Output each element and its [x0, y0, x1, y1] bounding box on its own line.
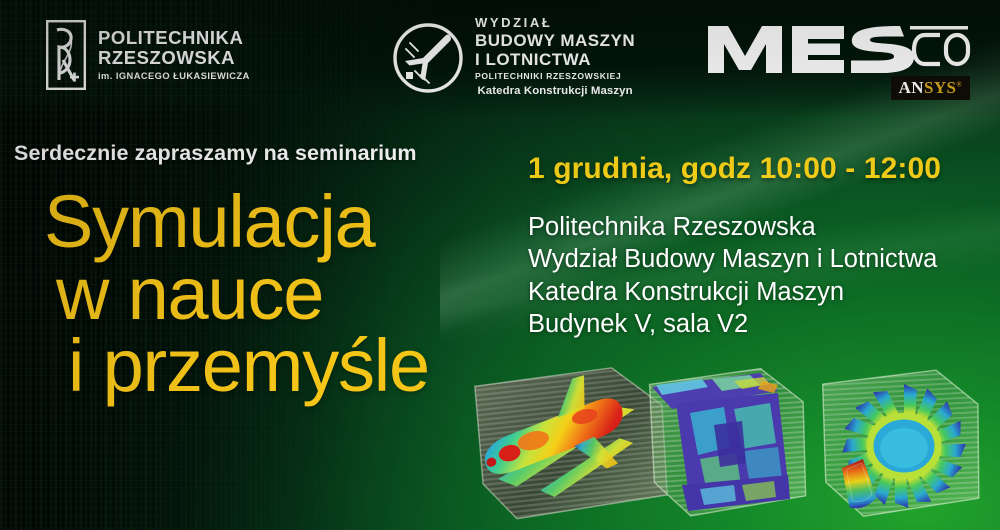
- fea-structure-thumbnail: [638, 351, 823, 530]
- politechnika-rzeszowska-monogram-icon: [46, 20, 86, 90]
- venue-line-3: Katedra Konstrukcji Maszyn: [528, 276, 937, 308]
- university-wordmark: POLITECHNIKA RZESZOWSKA im. IGNACEGO ŁUK…: [98, 29, 250, 81]
- venue-line-1: Politechnika Rzeszowska: [528, 211, 937, 243]
- venue-line-2: Wydział Budowy Maszyn i Lotnictwa: [528, 243, 937, 275]
- university-patron: im. IGNACEGO ŁUKASIEWICZA: [98, 72, 250, 81]
- invitation-text: Serdecznie zapraszamy na seminarium: [14, 141, 417, 166]
- faculty-department: Katedra Konstrukcji Maszyn: [475, 86, 635, 98]
- faculty-line2: BUDOWY MASZYN: [475, 32, 635, 50]
- faculty-wordmark: WYDZIAŁ BUDOWY MASZYN I LOTNICTWA POLITE…: [475, 16, 635, 98]
- ansys-logo: ANSYS®: [891, 76, 970, 100]
- faculty-line3: I LOTNICTWA: [475, 51, 635, 69]
- logo-mesco-ansys: ANSYS®: [704, 18, 972, 104]
- event-date-time: 1 grudnia, godz 10:00 - 12:00: [528, 152, 941, 186]
- ansys-prefix: AN: [899, 78, 924, 97]
- seminar-title: Symulacja w nauce i przemyśle: [0, 186, 470, 401]
- seminar-banner: POLITECHNIKA RZESZOWSKA im. IGNACEGO ŁUK…: [0, 0, 1000, 530]
- banner-header: POLITECHNIKA RZESZOWSKA im. IGNACEGO ŁUK…: [0, 0, 1000, 112]
- venue-line-4: Budynek V, sala V2: [528, 308, 937, 340]
- simulation-thumbnails: [470, 345, 1000, 530]
- title-line-2: w nauce: [0, 258, 470, 330]
- university-name-line2: RZESZOWSKA: [98, 49, 250, 68]
- turbomachinery-thumbnail: [808, 350, 1000, 530]
- mesco-wordmark-icon: [704, 18, 972, 80]
- university-name-line1: POLITECHNIKA: [98, 29, 250, 48]
- logo-faculty: WYDZIAŁ BUDOWY MASZYN I LOTNICTWA POLITE…: [392, 16, 635, 98]
- event-venue: Politechnika Rzeszowska Wydział Budowy M…: [528, 211, 937, 341]
- title-line-1: Symulacja: [0, 186, 470, 258]
- logo-politechnika-rzeszowska: POLITECHNIKA RZESZOWSKA im. IGNACEGO ŁUK…: [46, 20, 250, 90]
- ansys-trademark-icon: ®: [956, 80, 962, 88]
- faculty-line1: WYDZIAŁ: [475, 16, 635, 30]
- airplane-in-circle-icon: [392, 19, 464, 91]
- ansys-suffix: SYS: [924, 78, 956, 97]
- faculty-line4: POLITECHNIKI RZESZOWSKIEJ: [475, 72, 635, 81]
- title-line-3: i przemyśle: [0, 330, 470, 402]
